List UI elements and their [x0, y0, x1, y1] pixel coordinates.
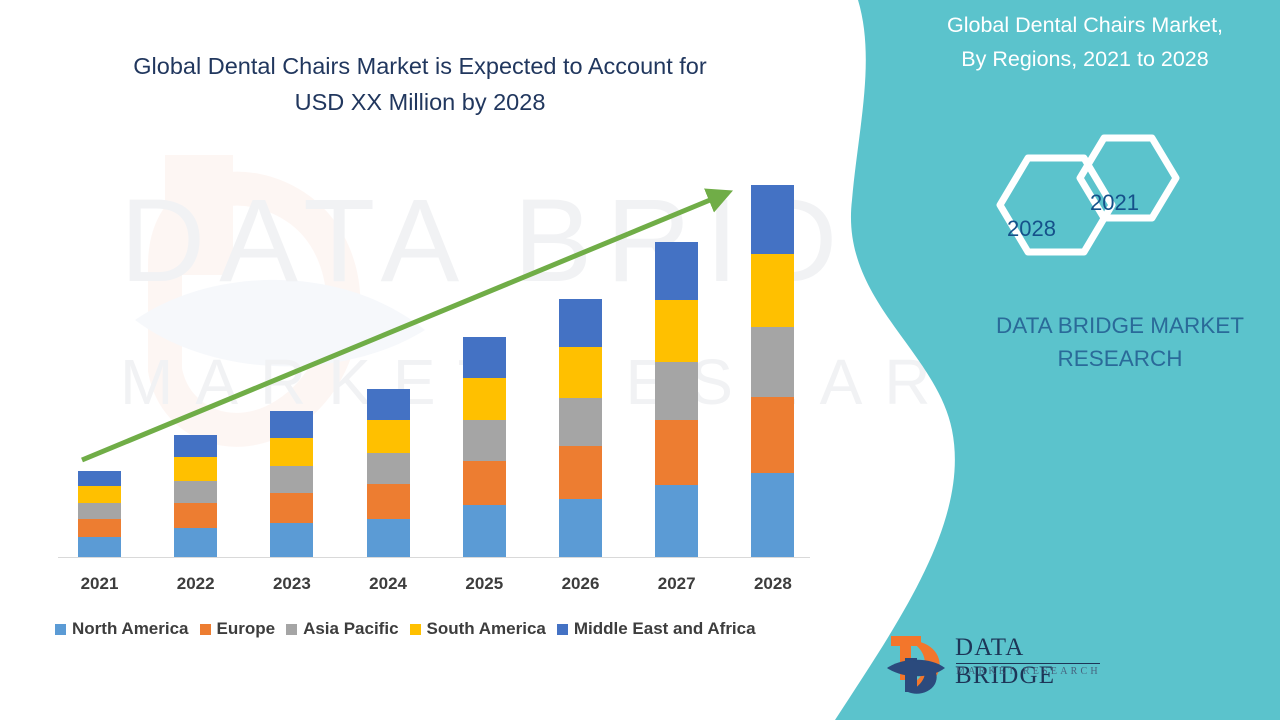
bar-segment-middle-east-and-africa[interactable] — [559, 299, 602, 347]
bar-segment-europe[interactable] — [559, 446, 602, 499]
legend-label: Asia Pacific — [303, 619, 398, 639]
company-logo: DATA BRIDGE MARKET RESEARCH — [885, 630, 1110, 702]
bar-segment-south-america[interactable] — [78, 486, 121, 503]
brand-name: DATA BRIDGE MARKET RESEARCH — [965, 310, 1275, 375]
bar-chart — [0, 0, 860, 600]
hex-badge-2021-label: 2021 — [1090, 190, 1139, 216]
x-axis-label-2021: 2021 — [60, 574, 140, 594]
chart-legend: North AmericaEuropeAsia PacificSouth Ame… — [55, 617, 845, 641]
legend-item-europe[interactable]: Europe — [200, 619, 276, 639]
bar-segment-asia-pacific[interactable] — [270, 466, 313, 493]
logo-divider — [956, 663, 1100, 664]
bar-segment-south-america[interactable] — [174, 457, 217, 481]
bar-segment-south-america[interactable] — [463, 378, 506, 421]
bar-segment-north-america[interactable] — [78, 537, 121, 557]
bar-2021[interactable] — [78, 471, 121, 557]
logo-subtitle: MARKET RESEARCH — [956, 666, 1101, 677]
bar-2024[interactable] — [367, 389, 410, 557]
legend-swatch-icon — [286, 624, 297, 635]
bar-segment-europe[interactable] — [78, 519, 121, 537]
x-axis-label-2022: 2022 — [156, 574, 236, 594]
bar-segment-north-america[interactable] — [367, 519, 410, 557]
legend-item-south-america[interactable]: South America — [410, 619, 546, 639]
bar-segment-north-america[interactable] — [559, 499, 602, 557]
bar-segment-asia-pacific[interactable] — [655, 362, 698, 420]
bar-2027[interactable] — [655, 242, 698, 557]
legend-item-middle-east-and-africa[interactable]: Middle East and Africa — [557, 619, 756, 639]
bar-segment-europe[interactable] — [367, 484, 410, 519]
hex-badge-2028-label: 2028 — [1007, 216, 1056, 242]
legend-swatch-icon — [410, 624, 421, 635]
legend-item-asia-pacific[interactable]: Asia Pacific — [286, 619, 398, 639]
infographic-slide: DATA BRIDGE MARKET RESEARCH Global Denta… — [0, 0, 1280, 720]
legend-label: Europe — [217, 619, 276, 639]
data-bridge-b-logo-icon — [885, 630, 949, 698]
x-axis-line — [58, 557, 810, 558]
bar-segment-north-america[interactable] — [270, 523, 313, 557]
bar-segment-europe[interactable] — [655, 420, 698, 485]
x-axis-label-2025: 2025 — [444, 574, 524, 594]
panel-title-line-1: Global Dental Chairs Market, — [900, 8, 1270, 42]
bar-segment-south-america[interactable] — [270, 438, 313, 466]
brand-name-line-1: DATA BRIDGE MARKET — [965, 310, 1275, 343]
bar-segment-asia-pacific[interactable] — [463, 420, 506, 460]
bar-2023[interactable] — [270, 411, 313, 557]
bar-segment-north-america[interactable] — [174, 528, 217, 557]
brand-name-line-2: RESEARCH — [965, 343, 1275, 376]
panel-title-line-2: By Regions, 2021 to 2028 — [900, 42, 1270, 76]
bar-segment-middle-east-and-africa[interactable] — [78, 471, 121, 487]
x-axis-label-2024: 2024 — [348, 574, 428, 594]
growth-arrow-icon — [0, 0, 860, 600]
bar-segment-middle-east-and-africa[interactable] — [367, 389, 410, 420]
bar-2025[interactable] — [463, 337, 506, 557]
bar-segment-europe[interactable] — [463, 461, 506, 506]
x-axis-label-2026: 2026 — [541, 574, 621, 594]
legend-swatch-icon — [55, 624, 66, 635]
bar-segment-south-america[interactable] — [367, 420, 410, 452]
bar-segment-asia-pacific[interactable] — [78, 503, 121, 519]
bar-segment-middle-east-and-africa[interactable] — [463, 337, 506, 377]
x-axis-label-2027: 2027 — [637, 574, 717, 594]
bar-segment-europe[interactable] — [174, 503, 217, 528]
bar-2026[interactable] — [559, 299, 602, 557]
bar-segment-middle-east-and-africa[interactable] — [270, 411, 313, 438]
bar-segment-north-america[interactable] — [463, 505, 506, 557]
bar-segment-europe[interactable] — [270, 493, 313, 523]
panel-title: Global Dental Chairs Market, By Regions,… — [900, 8, 1270, 77]
legend-label: North America — [72, 619, 189, 639]
legend-swatch-icon — [557, 624, 568, 635]
bar-segment-south-america[interactable] — [655, 300, 698, 362]
hex-badge-group: 2021 2028 — [980, 128, 1195, 283]
bar-segment-middle-east-and-africa[interactable] — [655, 242, 698, 300]
bar-segment-middle-east-and-africa[interactable] — [174, 435, 217, 457]
x-axis-labels: 20212022202320242025202620272028 — [0, 574, 860, 600]
legend-label: Middle East and Africa — [574, 619, 756, 639]
bar-segment-north-america[interactable] — [655, 485, 698, 557]
legend-item-north-america[interactable]: North America — [55, 619, 189, 639]
x-axis-label-2023: 2023 — [252, 574, 332, 594]
legend-label: South America — [427, 619, 546, 639]
bar-segment-asia-pacific[interactable] — [367, 453, 410, 484]
legend-swatch-icon — [200, 624, 211, 635]
logo-title: DATA BRIDGE — [955, 634, 1110, 690]
bar-segment-asia-pacific[interactable] — [559, 398, 602, 446]
bar-2022[interactable] — [174, 435, 217, 557]
bar-segment-south-america[interactable] — [559, 347, 602, 397]
bar-segment-asia-pacific[interactable] — [174, 481, 217, 503]
